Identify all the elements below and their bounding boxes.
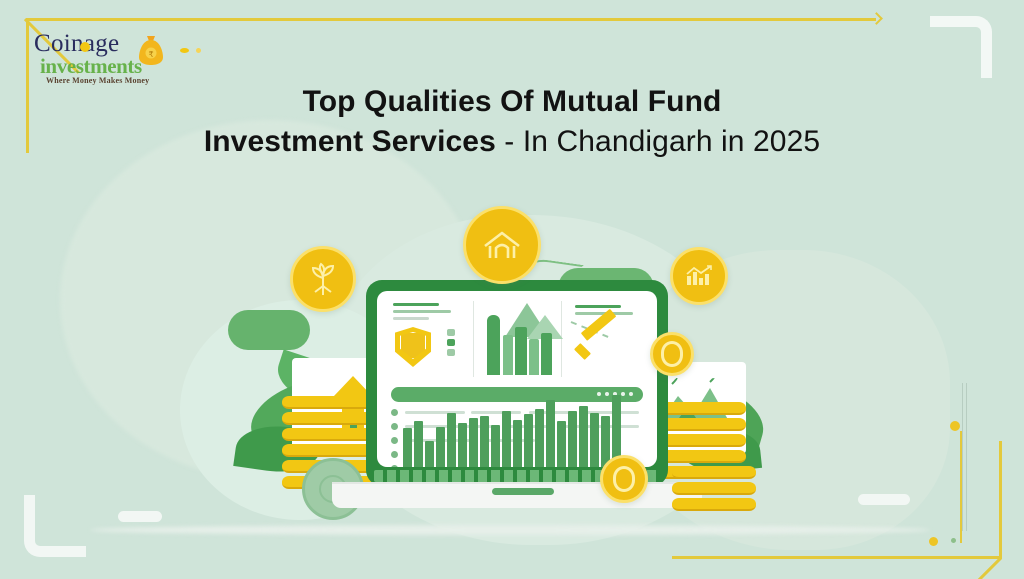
dot-decoration <box>929 537 938 546</box>
green-pill-decoration <box>228 310 310 350</box>
dot-decoration <box>196 48 201 53</box>
bar <box>447 413 456 467</box>
bar-chart <box>403 395 643 467</box>
corner-bracket-bottom-left <box>24 495 86 557</box>
laptop-trackpad <box>492 488 554 495</box>
vertical-line-decoration <box>962 383 963 531</box>
coin-currency-icon <box>600 455 648 503</box>
corner-diagonal-decoration <box>957 557 1002 579</box>
bar <box>524 414 533 467</box>
title-line-2-rest: - In Chandigarh in 2025 <box>496 125 820 158</box>
coin-bar-chart-icon <box>670 247 728 305</box>
bar <box>568 411 577 467</box>
bar-indicator-icon <box>447 329 455 359</box>
bar <box>557 421 566 467</box>
currency-ring-icon <box>613 466 635 492</box>
bar <box>579 406 588 467</box>
corner-bracket-top-right <box>930 16 992 78</box>
vertical-line-decoration <box>966 383 967 531</box>
shield-tree-icon <box>395 327 431 367</box>
hero-illustration <box>210 190 810 550</box>
bar <box>469 418 478 467</box>
bar <box>491 425 500 467</box>
coin-currency-small-icon <box>650 332 694 376</box>
bar <box>590 413 599 467</box>
checkmark-icon <box>575 333 621 367</box>
dashboard-panels <box>387 299 647 381</box>
coin-stack-small <box>672 466 756 510</box>
top-rule-tip-icon <box>870 12 883 25</box>
top-rule-decoration <box>28 18 876 21</box>
promo-banner: Coinage investments Where Money Makes Mo… <box>0 0 1024 579</box>
bar <box>480 416 489 467</box>
page-title: Top Qualities Of Mutual Fund Investment … <box>0 82 1024 162</box>
bar <box>425 441 434 467</box>
dash-decoration <box>118 511 162 522</box>
title-line-2: Investment Services - In Chandigarh in 2… <box>0 122 1024 162</box>
panel-industry <box>479 299 557 375</box>
bar <box>546 400 555 467</box>
title-line-2-bold: Investment Services <box>204 125 496 158</box>
currency-ring-icon <box>661 341 683 367</box>
bar <box>535 409 544 467</box>
laptop-screen <box>377 291 657 467</box>
vertical-accent-line <box>960 431 962 543</box>
bar <box>458 423 467 467</box>
dash-decoration <box>858 494 910 505</box>
coin-home-icon <box>463 206 541 284</box>
factory-mountain-icon <box>479 299 557 375</box>
dot-decoration <box>950 421 960 431</box>
bar <box>403 428 412 467</box>
bottom-rule-decoration <box>672 556 1002 559</box>
bar <box>414 421 423 467</box>
bar <box>436 427 445 467</box>
money-bag-icon: ₹ <box>136 32 166 66</box>
svg-text:₹: ₹ <box>148 50 153 59</box>
logo-coin-icon <box>80 42 90 52</box>
bar <box>502 411 511 467</box>
dot-decoration <box>951 538 956 543</box>
title-line-1: Top Qualities Of Mutual Fund <box>0 82 1024 122</box>
coin-growth-plant-icon <box>290 246 356 312</box>
bar <box>513 420 522 467</box>
